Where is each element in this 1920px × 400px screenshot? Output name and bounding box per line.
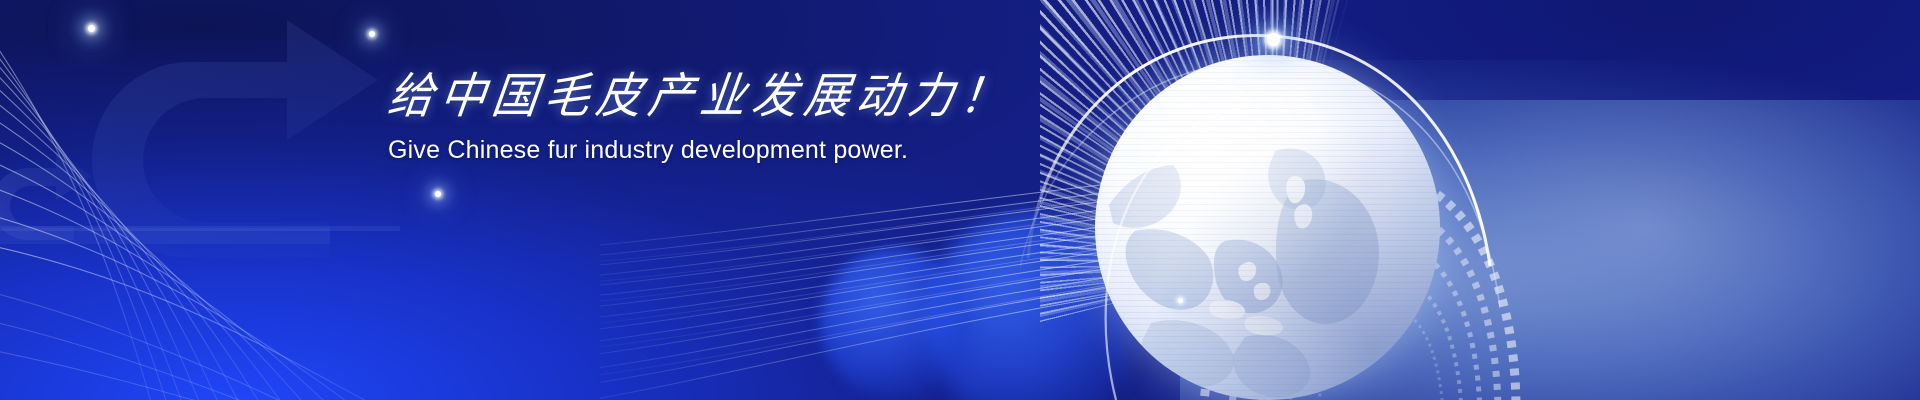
sparkle-icon-2: [369, 31, 375, 37]
curved-line-bundle: [0, 0, 680, 400]
headline-english: Give Chinese fur industry development po…: [388, 136, 1008, 165]
headline-chinese: 给中国毛皮产业发展动力！: [385, 72, 1036, 123]
orbit-glow-point: [1267, 33, 1280, 46]
sparkle-icon-1: [88, 25, 95, 32]
promo-banner: 给中国毛皮产业发展动力！ Give Chinese fur industry d…: [0, 0, 1920, 400]
headline-block: 给中国毛皮产业发展动力！ Give Chinese fur industry d…: [388, 74, 1008, 165]
orbital-ring: [1020, 8, 1500, 400]
sparkle-icon-4: [1178, 298, 1183, 303]
sparkle-icon-3: [435, 191, 441, 197]
